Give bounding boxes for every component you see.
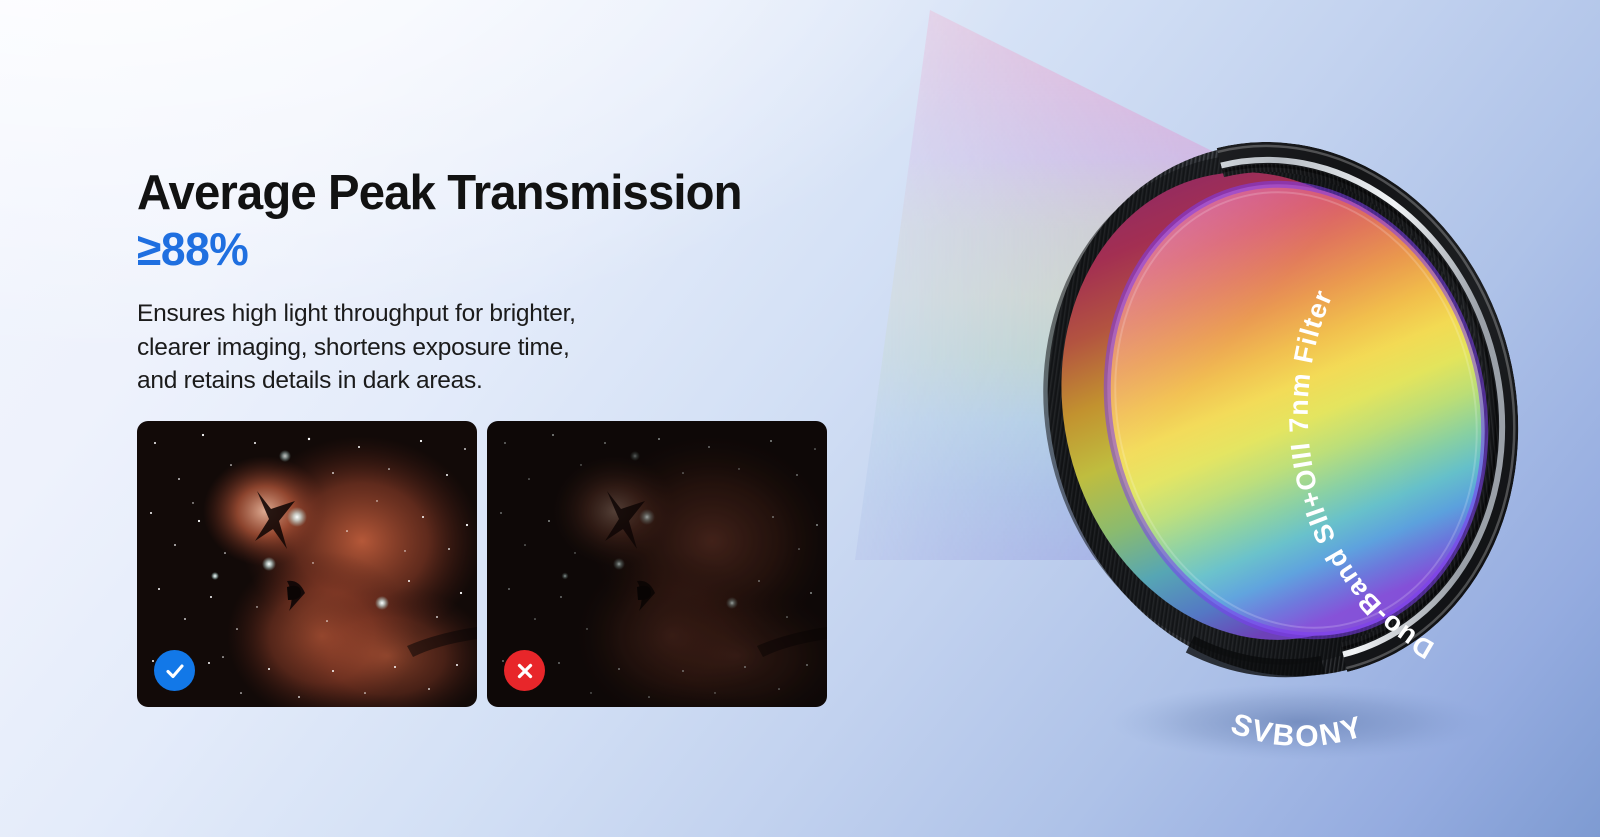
transmission-value: ≥88%: [137, 225, 870, 273]
cross-icon: [513, 659, 537, 683]
promo-banner: Average Peak Transmission ≥88% Ensures h…: [0, 0, 1600, 837]
check-icon: [163, 659, 187, 683]
copy-block: Average Peak Transmission ≥88% Ensures h…: [137, 168, 897, 397]
status-badge-bad: [504, 650, 545, 691]
product-image-filter: Duo-Band SII+OIII 7nm Filter SVBONY: [1010, 110, 1570, 770]
description-line-1: Ensures high light throughput for bright…: [137, 297, 897, 330]
comparison-gallery: [137, 421, 827, 707]
comparison-image-without-filter: [487, 421, 827, 707]
description-line-3: and retains details in dark areas.: [137, 364, 897, 397]
page-title: Average Peak Transmission: [137, 168, 870, 219]
description-line-2: clearer imaging, shortens exposure time,: [137, 331, 897, 364]
description: Ensures high light throughput for bright…: [137, 297, 897, 397]
comparison-image-with-filter: [137, 421, 477, 707]
status-badge-good: [154, 650, 195, 691]
